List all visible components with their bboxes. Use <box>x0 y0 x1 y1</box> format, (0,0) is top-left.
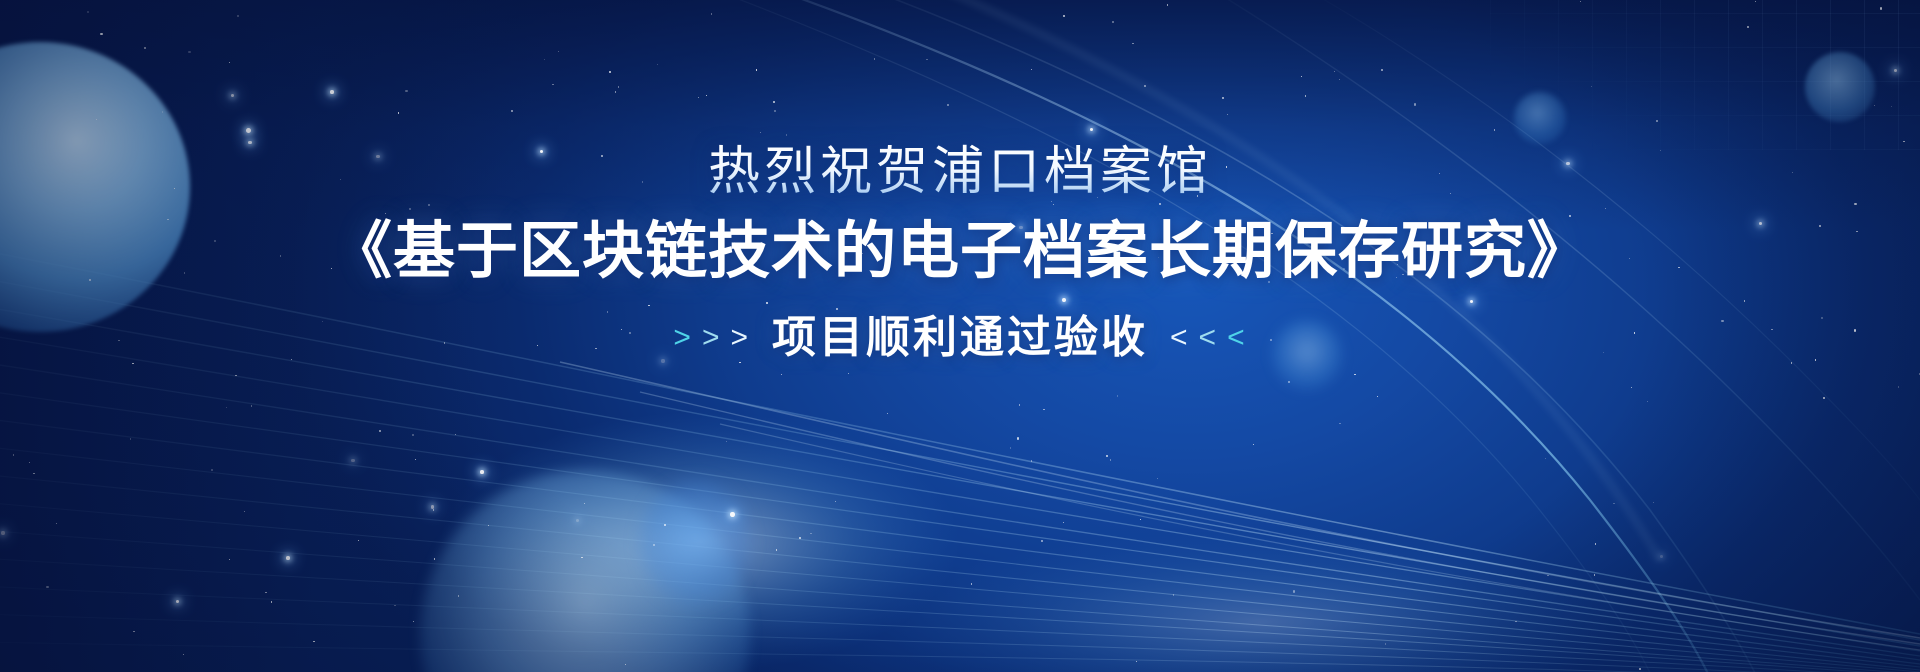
star-dot <box>1293 590 1295 592</box>
star-dot <box>726 441 727 442</box>
star-dot <box>581 557 582 558</box>
star-dot <box>1545 458 1546 459</box>
star-dot <box>1106 455 1107 456</box>
chevron-left-icon-3: < <box>1227 323 1247 353</box>
chevron-left-icon-2: < <box>1199 323 1219 353</box>
star-dot <box>1043 409 1044 410</box>
star-dot <box>584 503 585 504</box>
star-dot <box>835 501 836 502</box>
headline-block: 热烈祝贺浦口档案馆 《基于区块链技术的电子档案长期保存研究》 > > > 项目顺… <box>0 140 1920 366</box>
star-dot <box>1173 594 1174 595</box>
star-glow-5 <box>730 512 735 517</box>
star-dot <box>653 544 655 546</box>
promo-banner: 热烈祝贺浦口档案馆 《基于区块链技术的电子档案长期保存研究》 > > > 项目顺… <box>0 0 1920 672</box>
star-dot <box>1288 381 1289 382</box>
star-dot <box>1660 555 1663 558</box>
star-dot <box>625 664 626 665</box>
star-dot <box>1823 397 1825 399</box>
headline-line-2-project-title: 《基于区块链技术的电子档案长期保存研究》 <box>0 210 1920 294</box>
star-dot <box>1019 404 1020 405</box>
star-dot <box>1041 540 1042 541</box>
chevron-left-icon-1: < <box>1170 323 1190 353</box>
star-dot <box>887 413 888 414</box>
headline-line-3-row: > > > 项目顺利通过验收 < < < <box>0 310 1920 366</box>
star-dot <box>1253 444 1254 445</box>
star-dot <box>781 374 782 375</box>
star-dot <box>1010 447 1011 448</box>
headline-line-1: 热烈祝贺浦口档案馆 <box>0 140 1920 204</box>
chevron-right-triple-icon: > > > <box>673 323 750 353</box>
star-dot <box>799 537 801 539</box>
star-dot <box>576 519 579 522</box>
star-dot <box>1339 423 1340 424</box>
star-dot <box>1110 459 1111 460</box>
chevron-right-icon-3: > <box>730 323 750 353</box>
star-dot <box>1639 668 1641 670</box>
star-dot <box>1898 386 1899 387</box>
star-dot <box>1653 502 1654 503</box>
star-dot <box>1157 478 1158 479</box>
star-dot <box>1140 519 1141 520</box>
star-dot <box>1631 387 1632 388</box>
star-dot <box>664 524 666 526</box>
star-dot <box>1647 401 1648 402</box>
star-dot <box>1377 396 1378 397</box>
star-dot <box>1017 437 1019 439</box>
star-dot <box>848 373 849 374</box>
star-dot <box>1547 575 1548 576</box>
star-dot <box>1613 503 1614 504</box>
star-dot <box>1136 661 1137 662</box>
star-dot <box>1515 621 1516 622</box>
chevron-right-icon-1: > <box>673 323 693 353</box>
star-dot <box>1595 543 1596 544</box>
star-dot <box>1354 374 1355 375</box>
star-dot <box>1117 395 1118 396</box>
star-dot <box>1594 574 1595 575</box>
chevron-right-icon-2: > <box>702 323 722 353</box>
star-dot <box>1063 522 1064 523</box>
star-dot <box>971 583 972 584</box>
headline-line-3: 项目顺利通过验收 <box>772 310 1148 366</box>
chevron-left-triple-icon: < < < <box>1170 323 1247 353</box>
star-dot <box>1031 460 1032 461</box>
star-dot <box>810 533 811 534</box>
glow-blob-lower-left-icon <box>640 480 750 605</box>
star-dot <box>1385 643 1386 644</box>
star-dot <box>776 549 777 550</box>
